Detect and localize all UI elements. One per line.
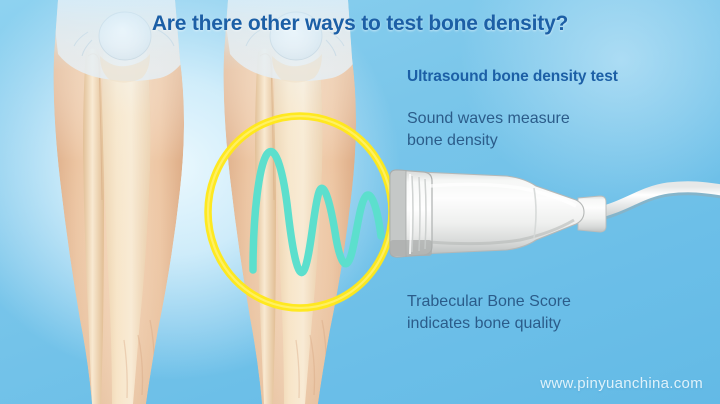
- panel-body-sound-waves-line-1: Sound waves measure: [407, 108, 570, 130]
- page-title: Are there other ways to test bone densit…: [0, 12, 720, 36]
- panel-body-trabecular-score-line-2: indicates bone quality: [407, 313, 571, 335]
- panel-body-sound-waves-line-2: bone density: [407, 130, 570, 152]
- ultrasound-scan-overlay: [0, 0, 720, 404]
- scan-zone-circle-inner-glow: [208, 116, 392, 308]
- panel-body-trabecular-score: Trabecular Bone Score indicates bone qua…: [407, 291, 571, 335]
- infographic-canvas: Are there other ways to test bone densit…: [0, 0, 720, 404]
- ultrasound-sound-wave: [253, 152, 381, 273]
- watermark-url: www.pinyuanchina.com: [540, 375, 703, 392]
- panel-body-trabecular-score-line-1: Trabecular Bone Score: [407, 291, 571, 313]
- panel-heading: Ultrasound bone density test: [407, 68, 618, 86]
- probe-head-highlight: [410, 174, 411, 254]
- panel-body-sound-waves: Sound waves measure bone density: [407, 108, 570, 152]
- probe-cable: [592, 187, 720, 214]
